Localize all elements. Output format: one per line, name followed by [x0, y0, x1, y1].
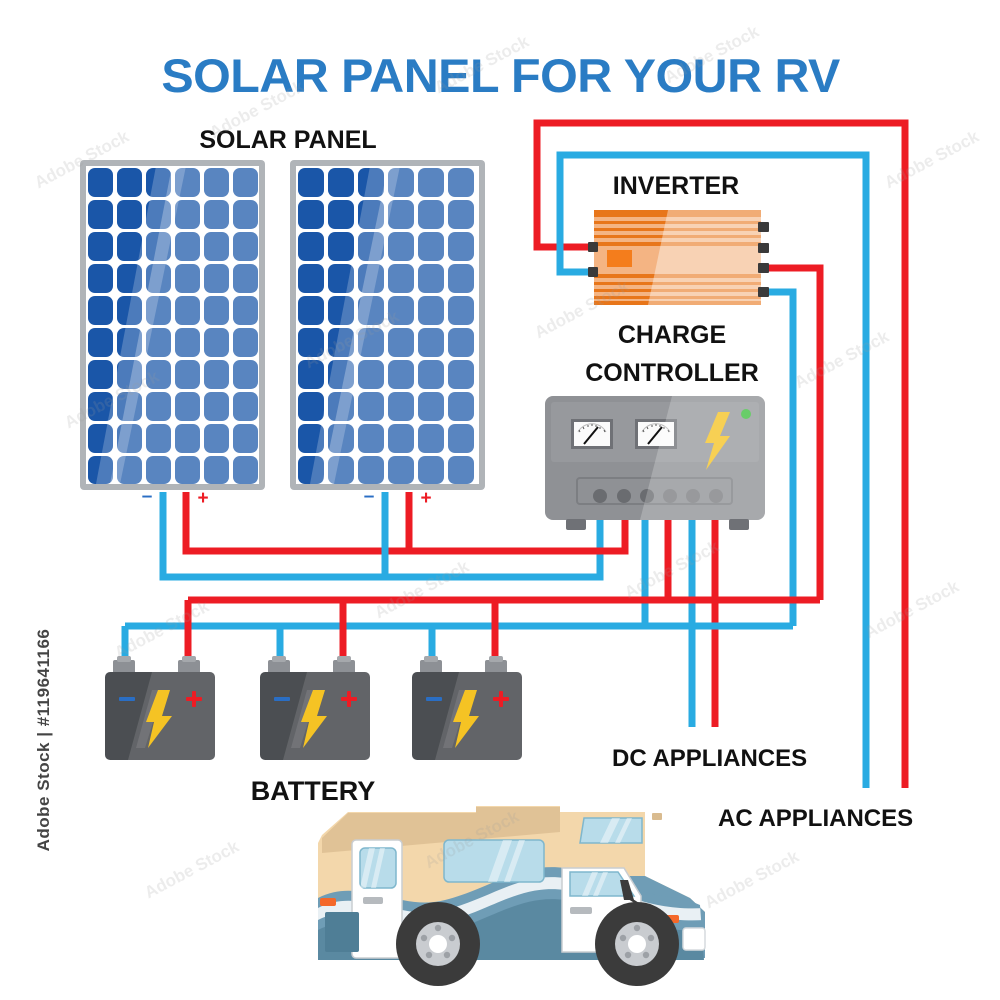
diagram-canvas: SOLAR PANEL FOR YOUR RV SOLAR PANEL INVE… [0, 0, 1000, 1000]
label-charge-controller-2: CONTROLLER [585, 359, 759, 387]
battery-1[interactable] [105, 656, 215, 760]
wire-panel1-negative [163, 492, 560, 577]
battery-minus-icon [119, 697, 135, 701]
panel2-negative-label: – [364, 486, 375, 507]
inverter-button[interactable] [607, 250, 632, 267]
charge-controller[interactable] [545, 396, 765, 530]
label-charge-controller-1: CHARGE [618, 321, 726, 349]
rv-storage-hatch[interactable] [325, 912, 359, 952]
solar-panel-1[interactable] [80, 160, 265, 490]
panel1-positive-label: + [197, 488, 208, 509]
label-inverter: INVERTER [613, 172, 739, 200]
label-dc-appliances: DC APPLIANCES [612, 745, 807, 772]
rv-headlight [683, 928, 705, 950]
label-ac-appliances: AC APPLIANCES [718, 805, 913, 832]
battery-2[interactable] [260, 656, 370, 760]
rv-wheel-front [595, 902, 679, 986]
rv-wheel-rear [396, 902, 480, 986]
controller-foot-left [566, 519, 586, 530]
panel2-positive-label: + [420, 488, 431, 509]
battery-minus-icon [274, 697, 290, 701]
wire-inverter-dc-negative [761, 292, 793, 626]
battery-3[interactable] [412, 656, 522, 760]
meter-gauge-1 [571, 419, 613, 449]
rv-rear-door-handle[interactable] [363, 897, 383, 904]
rv-vehicle[interactable] [318, 806, 705, 986]
wire-panel1-positive [186, 492, 596, 551]
rv-cab-door-handle[interactable] [570, 907, 592, 914]
panel1-negative-label: – [142, 486, 153, 507]
battery-minus-icon [426, 697, 442, 701]
rv-marker-light-rear [320, 898, 336, 906]
label-battery: BATTERY [251, 776, 376, 806]
controller-foot-right [729, 519, 749, 530]
solar-rv-wiring-diagram: SOLAR PANEL FOR YOUR RV SOLAR PANEL INVE… [0, 0, 1000, 1000]
